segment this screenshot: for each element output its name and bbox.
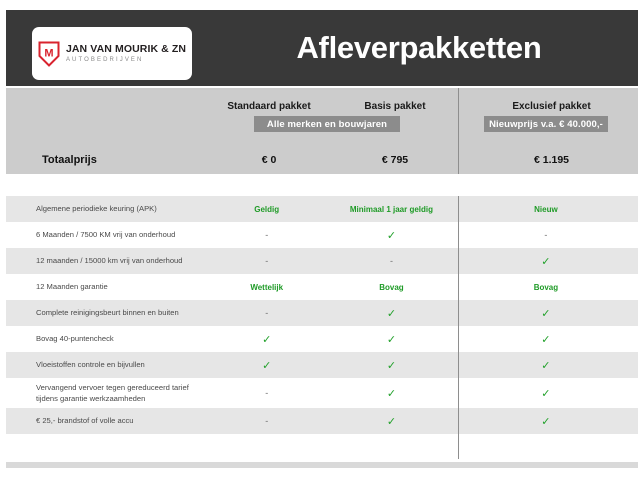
table-row: Complete reinigingsbeurt binnen en buite…: [6, 300, 638, 326]
value-basis: Bovag: [329, 283, 454, 292]
table-row: Vervangend vervoer tegen gereduceerd tar…: [6, 378, 638, 408]
column-divider: [458, 222, 459, 248]
feature-label: 6 Maanden / 7500 KM vrij van onderhoud: [6, 229, 204, 240]
table-row: Bovag 40-puntencheck✓✓✓: [6, 326, 638, 352]
column-header-standaard: Standaard pakket: [206, 101, 332, 112]
column-divider: [458, 274, 459, 300]
bottom-strip: [6, 462, 638, 468]
column-divider: [458, 378, 459, 408]
value-standaard: Geldig: [204, 205, 329, 214]
value-exclusief: ✓: [454, 387, 638, 400]
value-standaard: ✓: [204, 333, 329, 346]
value-exclusief: ✓: [454, 333, 638, 346]
value-standaard: -: [204, 308, 329, 318]
column-divider: [458, 300, 459, 326]
package-titles: Standaard pakket Basis pakket: [6, 101, 458, 112]
value-exclusief: ✓: [454, 307, 638, 320]
value-standaard: ✓: [204, 359, 329, 372]
feature-label: 12 maanden / 15000 km vrij van onderhoud: [6, 255, 204, 266]
svg-text:M: M: [44, 47, 53, 59]
column-divider: [458, 326, 459, 352]
value-standaard: -: [204, 256, 329, 266]
column-divider: [458, 434, 459, 459]
value-exclusief: Nieuw: [454, 205, 638, 214]
badge-alle-merken: Alle merken en bouwjaren: [254, 116, 400, 132]
value-basis: ✓: [329, 229, 454, 242]
shield-logo-icon: M: [38, 41, 60, 67]
column-divider: [458, 248, 459, 274]
value-basis: ✓: [329, 359, 454, 372]
value-basis: -: [329, 256, 454, 266]
value-basis: ✓: [329, 333, 454, 346]
value-exclusief: ✓: [454, 255, 638, 268]
feature-column-header: [6, 101, 206, 112]
total-price-basis: € 795: [332, 154, 458, 166]
logo-subtitle: AUTOBEDRIJVEN: [66, 57, 186, 63]
value-basis: ✓: [329, 415, 454, 428]
value-basis: ✓: [329, 387, 454, 400]
table-row: Algemene periodieke keuring (APK)GeldigM…: [6, 196, 638, 222]
column-header-exclusief: Exclusief pakket: [459, 101, 640, 112]
feature-table: Algemene periodieke keuring (APK)GeldigM…: [6, 196, 638, 459]
value-basis: Minimaal 1 jaar geldig: [329, 205, 454, 214]
column-divider: [458, 196, 459, 222]
value-exclusief: ✓: [454, 359, 638, 372]
feature-label: Algemene periodieke keuring (APK): [6, 203, 204, 214]
value-exclusief: Bovag: [454, 283, 638, 292]
feature-label: 12 Maanden garantie: [6, 281, 204, 292]
value-standaard: -: [204, 230, 329, 240]
total-price-exclusief: € 1.195: [459, 154, 640, 166]
column-divider: [458, 352, 459, 378]
table-row: 12 Maanden garantieWettelijkBovagBovag: [6, 274, 638, 300]
company-logo: M JAN VAN MOURIK & ZN AUTOBEDRIJVEN: [32, 27, 192, 80]
value-standaard: -: [204, 388, 329, 398]
badge-nieuwprijs: Nieuwprijs v.a. € 40.000,-: [484, 116, 608, 132]
table-trailing-row: [6, 434, 638, 459]
feature-label: Vervangend vervoer tegen gereduceerd tar…: [6, 382, 204, 405]
value-basis: ✓: [329, 307, 454, 320]
total-price-label: Totaalprijs: [6, 154, 206, 166]
feature-label: € 25,- brandstof of volle accu: [6, 415, 204, 426]
value-standaard: -: [204, 416, 329, 426]
value-exclusief: ✓: [454, 415, 638, 428]
column-divider: [458, 408, 459, 434]
logo-company-name: JAN VAN MOURIK & ZN: [66, 44, 186, 55]
table-row: € 25,- brandstof of volle accu-✓✓: [6, 408, 638, 434]
table-row: 6 Maanden / 7500 KM vrij van onderhoud-✓…: [6, 222, 638, 248]
feature-label: Bovag 40-puntencheck: [6, 333, 204, 344]
value-exclusief: -: [454, 230, 638, 240]
page-title: Afleverpakketten: [200, 10, 638, 86]
feature-label: Complete reinigingsbeurt binnen en buite…: [6, 307, 204, 318]
feature-label: Vloeistoffen controle en bijvullen: [6, 359, 204, 370]
total-price-standaard: € 0: [206, 154, 332, 166]
total-price-row: Totaalprijs € 0 € 795 € 1.195: [6, 151, 638, 169]
logo-text-block: JAN VAN MOURIK & ZN AUTOBEDRIJVEN: [66, 44, 186, 63]
column-header-basis: Basis pakket: [332, 101, 458, 112]
table-row: 12 maanden / 15000 km vrij van onderhoud…: [6, 248, 638, 274]
table-row: Vloeistoffen controle en bijvullen✓✓✓: [6, 352, 638, 378]
afleverpakketten-page: M JAN VAN MOURIK & ZN AUTOBEDRIJVEN Afle…: [0, 0, 640, 480]
value-standaard: Wettelijk: [204, 283, 329, 292]
